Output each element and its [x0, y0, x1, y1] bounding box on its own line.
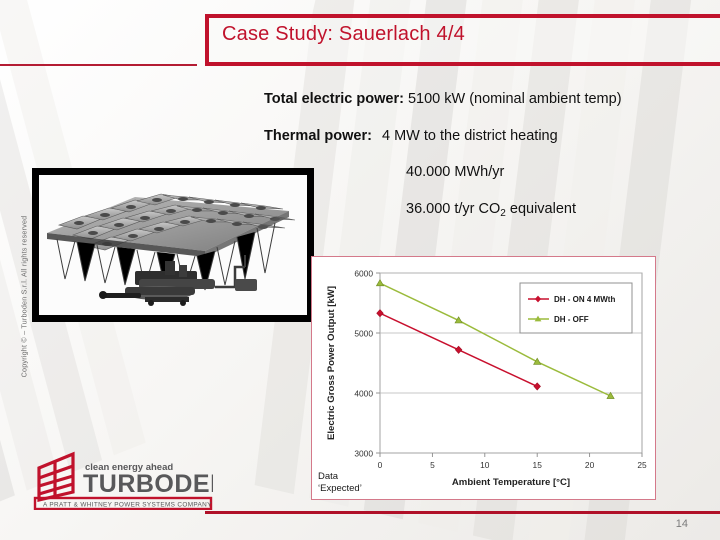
- plant-photo: [33, 169, 313, 321]
- value-thermal-power: 4 MW to the district heating: [382, 128, 558, 144]
- svg-text:4000: 4000: [354, 388, 373, 398]
- svg-text:6000: 6000: [354, 268, 373, 278]
- body-line-annual-energy: 40.000 MWh/yr: [264, 165, 720, 180]
- svg-text:20: 20: [585, 460, 595, 470]
- value-co2-prefix: 36.000 t/yr CO: [406, 201, 500, 217]
- svg-text:DH - ON 4 MWth: DH - ON 4 MWth: [554, 295, 615, 304]
- svg-text:5: 5: [430, 460, 435, 470]
- svg-text:3000: 3000: [354, 448, 373, 458]
- chart-annotation-line2: ‘Expected’: [318, 483, 362, 495]
- chart-annotation: Data ‘Expected’: [318, 471, 362, 495]
- chart-plot: 30004000500060000510152025Ambient Temper…: [312, 257, 655, 499]
- svg-text:15: 15: [533, 460, 543, 470]
- plant-photo-image: [39, 175, 307, 315]
- svg-text:10: 10: [480, 460, 490, 470]
- svg-text:DH - OFF: DH - OFF: [554, 315, 589, 324]
- svg-text:0: 0: [378, 460, 383, 470]
- chart-annotation-line1: Data: [318, 471, 362, 483]
- slide-canvas: Case Study: Sauerlach 4/4 Total electric…: [0, 0, 720, 540]
- svg-text:TURBODEN: TURBODEN: [83, 470, 213, 498]
- page-title: Case Study: Sauerlach 4/4: [222, 23, 465, 46]
- label-total-electric-power: Total electric power:: [264, 91, 404, 107]
- body-line-total-electric-power: Total electric power: 5100 kW (nominal a…: [264, 92, 720, 107]
- svg-text:Ambient Temperature [°C]: Ambient Temperature [°C]: [452, 477, 570, 488]
- value-co2-suffix: equivalent: [506, 201, 576, 217]
- svg-text:5000: 5000: [354, 328, 373, 338]
- performance-chart: 30004000500060000510152025Ambient Temper…: [311, 256, 656, 500]
- page-number: 14: [676, 518, 688, 530]
- footer-divider: [205, 511, 720, 514]
- svg-text:Electric Gross Power Output [k: Electric Gross Power Output [kW]: [326, 286, 337, 440]
- copyright-notice: Copyright © – Turboden S.r.l. All rights…: [20, 187, 29, 407]
- label-thermal-power: Thermal power:: [264, 128, 372, 144]
- title-divider-left: [0, 64, 197, 66]
- body-text-block: Total electric power: 5100 kW (nominal a…: [264, 92, 720, 241]
- turboden-logo: clean energy ahead TURBODEN A PRATT & WH…: [33, 448, 213, 510]
- body-line-thermal-power: Thermal power: 4 MW to the district heat…: [264, 129, 720, 144]
- svg-text:25: 25: [637, 460, 647, 470]
- svg-text:A PRATT & WHITNEY POWER SYSTEM: A PRATT & WHITNEY POWER SYSTEMS COMPANY: [43, 502, 212, 509]
- value-total-electric-power: 5100 kW (nominal ambient temp): [408, 91, 622, 107]
- value-annual-energy: 40.000 MWh/yr: [406, 164, 504, 180]
- body-line-co2-equivalent: 36.000 t/yr CO2 equivalent: [264, 202, 720, 219]
